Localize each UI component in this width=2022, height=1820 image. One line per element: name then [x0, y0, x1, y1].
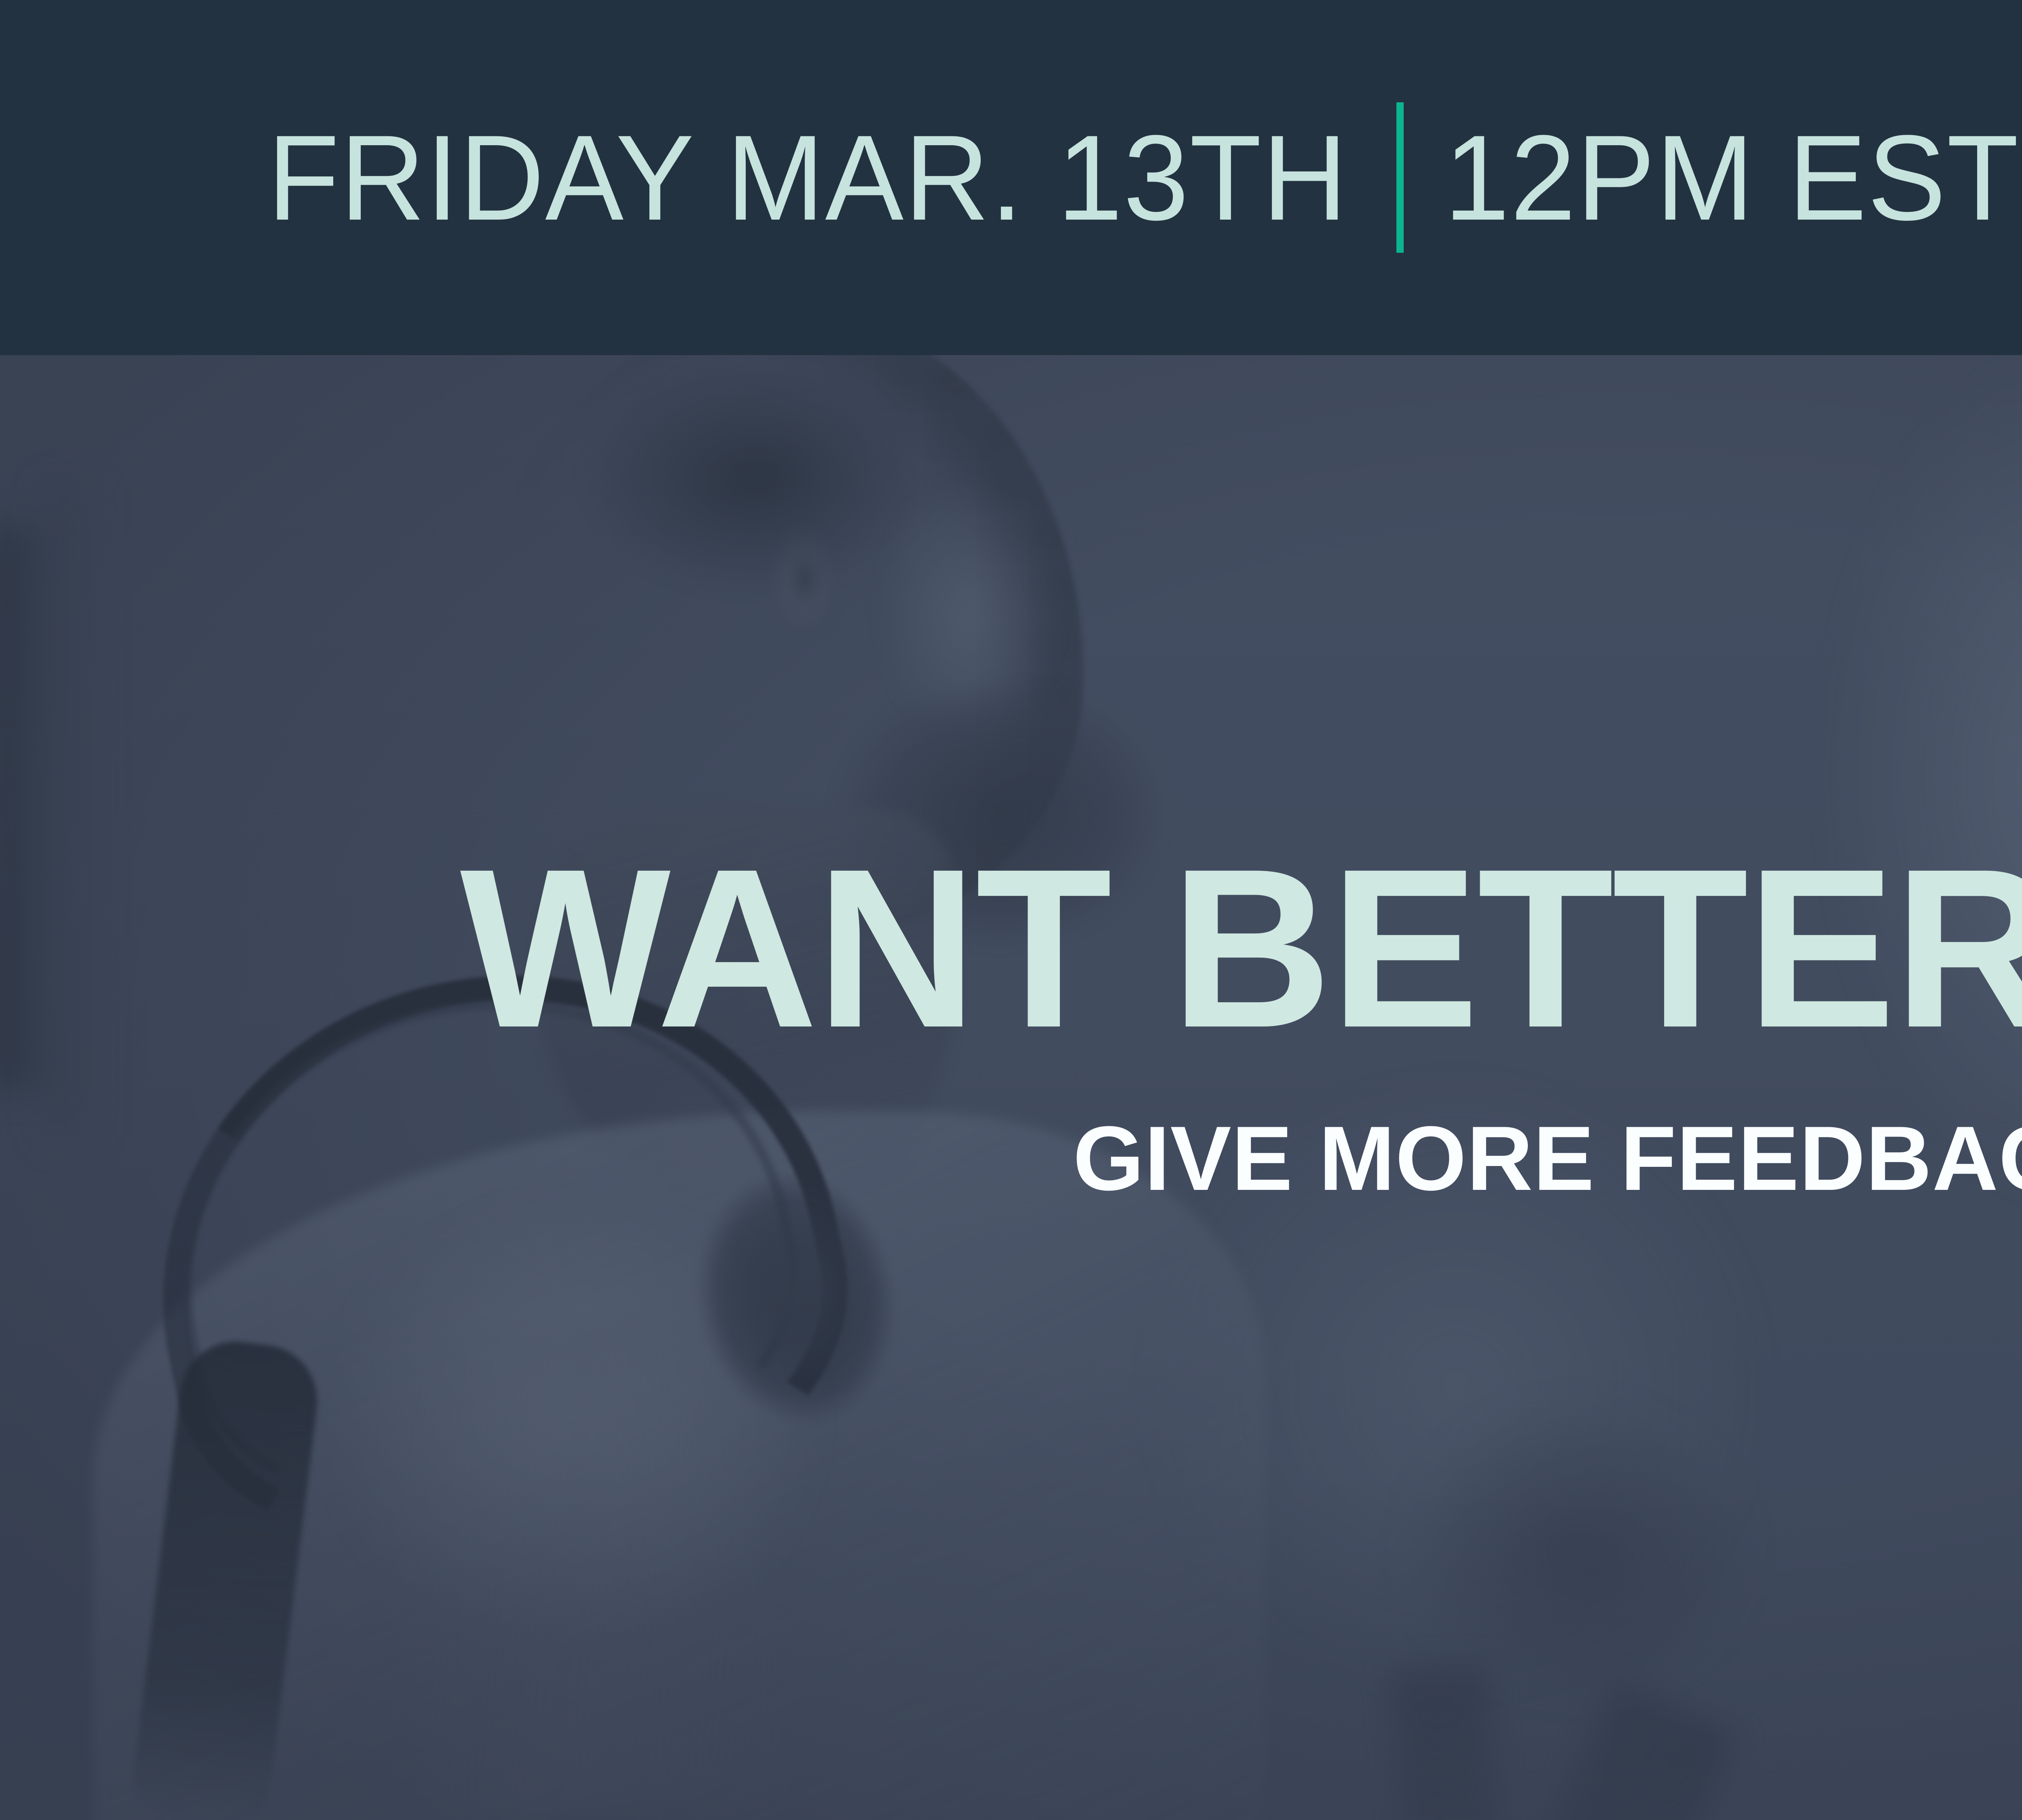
event-details-bar: FRIDAY MAR. 13TH 12PM EST LIVE ON ZOOM	[0, 0, 2022, 355]
subject-left	[0, 355, 1294, 1820]
event-date: FRIDAY MAR. 13TH	[267, 117, 1348, 238]
hero-photo	[0, 355, 2022, 1820]
headphone-earcup-highlight	[712, 1180, 882, 1407]
left-subject-ear-inner	[780, 541, 829, 618]
header-divider-1	[1396, 102, 1404, 253]
promo-banner: FRIDAY MAR. 13TH 12PM EST LIVE ON ZOOM W…	[0, 0, 2022, 1820]
subject-right	[1860, 355, 2022, 1820]
event-details-inner: FRIDAY MAR. 13TH 12PM EST LIVE ON ZOOM	[251, 101, 2022, 254]
event-time: 12PM EST	[1444, 117, 2020, 238]
